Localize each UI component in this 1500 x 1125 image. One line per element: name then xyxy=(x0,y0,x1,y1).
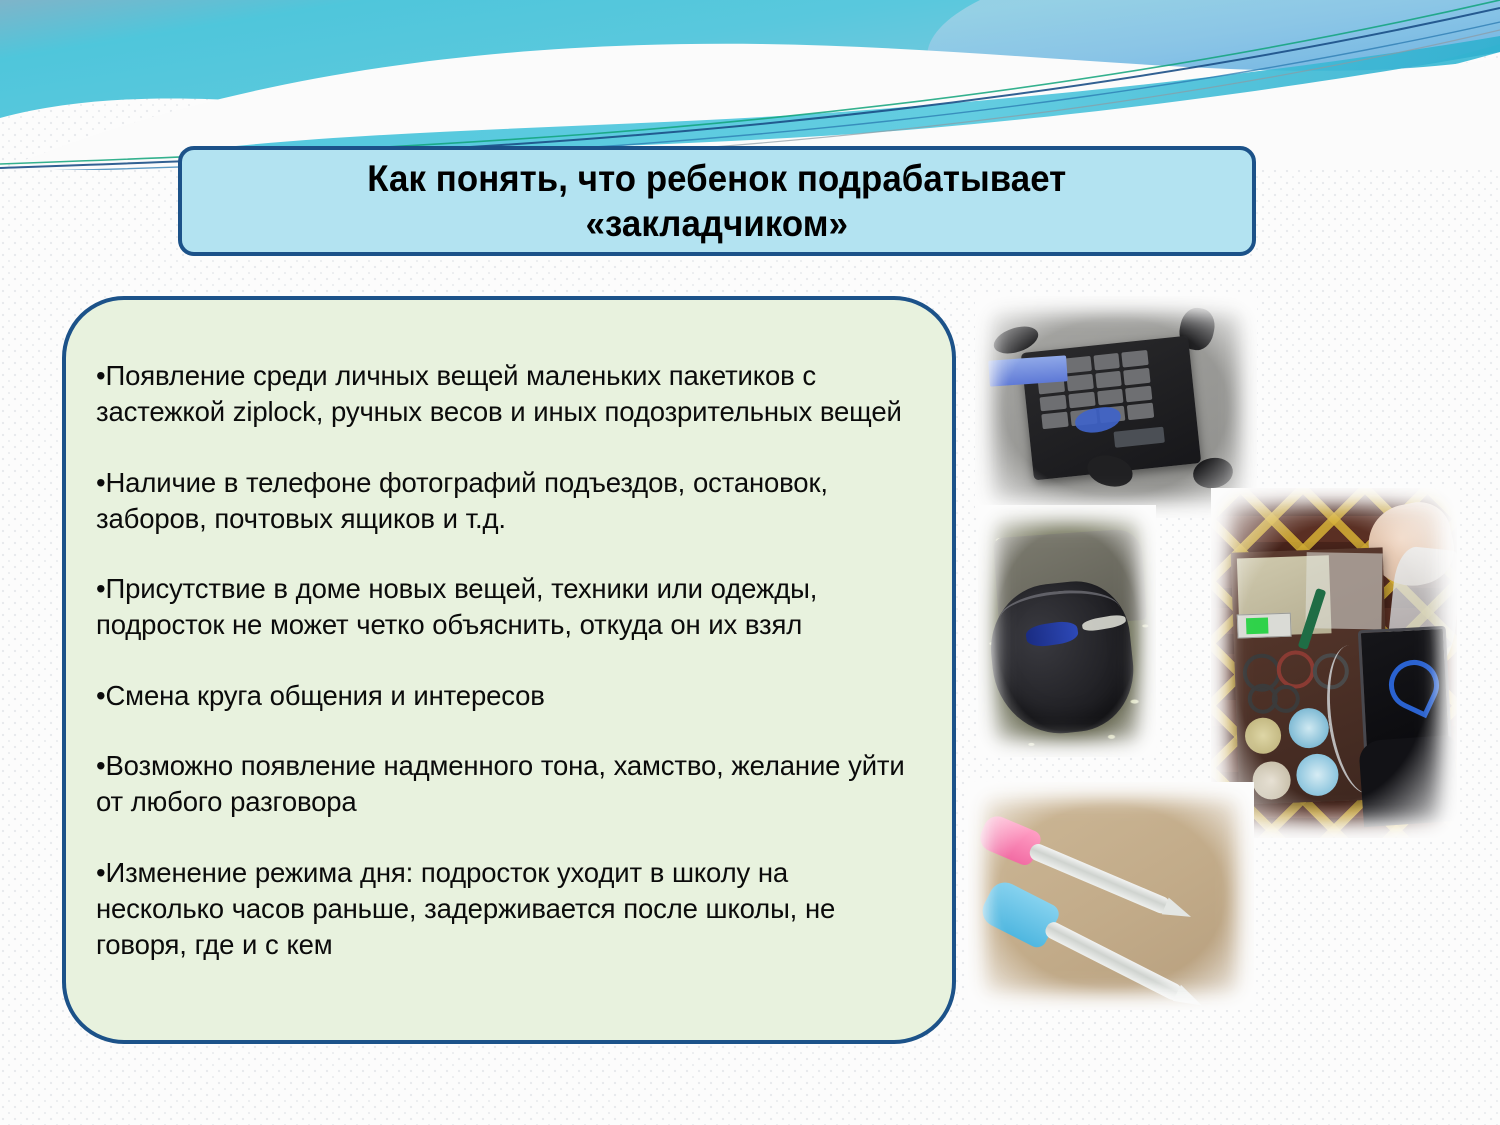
list-item: •Изменение режима дня: подросток уходит … xyxy=(96,855,922,964)
slide-title-box: Как понять, что ребенок подрабатывает «з… xyxy=(178,146,1256,256)
list-item: •Появление среди личных вещей маленьких … xyxy=(96,358,922,431)
list-item: •Наличие в телефоне фотографий подъездов… xyxy=(96,465,922,538)
list-item: •Смена круга общения и интересов xyxy=(96,678,922,714)
pipettes-photo xyxy=(968,782,1254,1010)
keypad-scale-photo xyxy=(975,296,1257,518)
bullet-list: •Появление среди личных вещей маленьких … xyxy=(96,358,922,964)
content-panel: •Появление среди личных вещей маленьких … xyxy=(62,296,956,1044)
header-wave-decoration xyxy=(0,0,1500,170)
slide-canvas: Как понять, что ребенок подрабатывает «з… xyxy=(0,0,1500,1125)
dark-bag-photo xyxy=(978,505,1156,757)
page-title: Как понять, что ребенок подрабатывает «з… xyxy=(349,156,1086,246)
list-item: •Возможно появление надменного тона, хам… xyxy=(96,748,922,821)
list-item: •Присутствие в доме новых вещей, техники… xyxy=(96,571,922,644)
